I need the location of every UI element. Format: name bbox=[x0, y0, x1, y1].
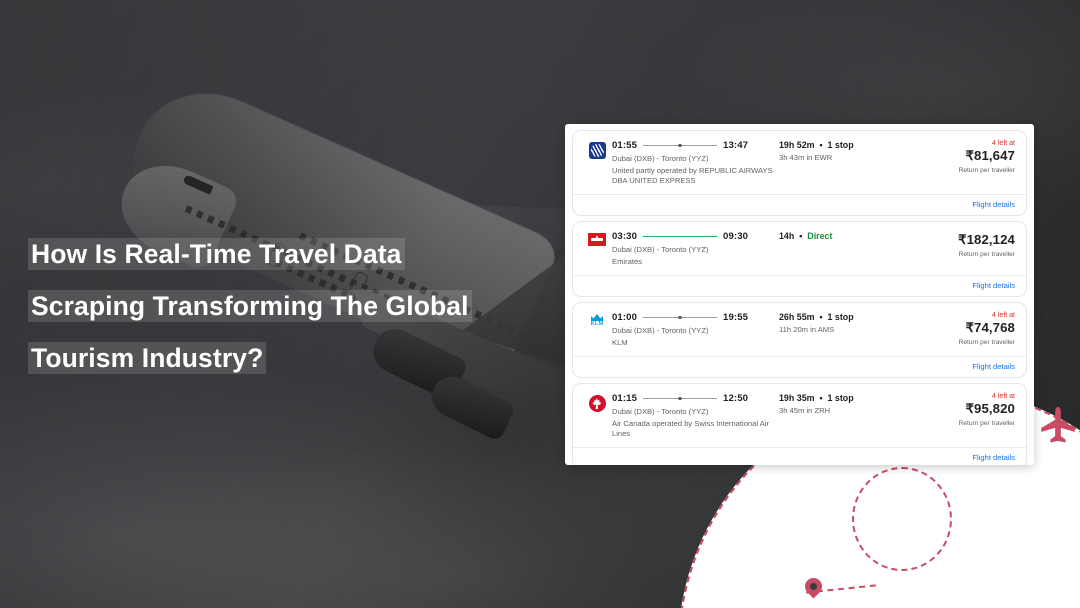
flight-price: ₹74,768 bbox=[911, 320, 1015, 336]
air-canada-logo bbox=[589, 395, 606, 412]
route-line bbox=[643, 145, 717, 146]
flight-duration-stops: 19h 52m • 1 stop bbox=[779, 140, 911, 150]
flight-stops: 1 stop bbox=[828, 312, 854, 322]
seats-left-badge: 4 left at bbox=[911, 140, 1015, 147]
flight-duration-stops: 19h 35m • 1 stop bbox=[779, 393, 911, 403]
arrive-time: 19:55 bbox=[723, 312, 748, 323]
depart-time: 01:55 bbox=[612, 140, 637, 151]
arrive-time: 13:47 bbox=[723, 140, 748, 151]
operating-carrier: Emirates bbox=[612, 257, 779, 267]
price-note: Return per traveller bbox=[911, 251, 1015, 258]
operating-carrier: Air Canada operated by Swiss Internation… bbox=[612, 419, 779, 439]
separator-dot: • bbox=[797, 231, 805, 241]
flight-times: 01:15 12:50 bbox=[612, 393, 779, 404]
operating-carrier: United partly operated by REPUBLIC AIRWA… bbox=[612, 166, 779, 186]
separator-dot: • bbox=[817, 393, 825, 403]
flight-layover: 3h 43m in EWR bbox=[779, 153, 911, 162]
route-line bbox=[643, 236, 717, 237]
klm-logo: KLM bbox=[586, 314, 608, 328]
flight-details-row: Flight details bbox=[573, 448, 1026, 465]
flight-duration-stops: 26h 55m • 1 stop bbox=[779, 312, 911, 322]
flight-duration-stops: 14h • Direct bbox=[779, 231, 911, 241]
flight-price: ₹95,820 bbox=[911, 401, 1015, 417]
depart-time: 01:15 bbox=[612, 393, 637, 404]
flight-details-row: Flight details bbox=[573, 195, 1026, 215]
separator-dot: • bbox=[817, 140, 825, 150]
flight-result-row[interactable]: 01:55 13:47 Dubai (DXB) - Toronto (YYZ) … bbox=[572, 130, 1027, 216]
arrive-time: 12:50 bbox=[723, 393, 748, 404]
route-line bbox=[643, 398, 717, 399]
flight-stops: Direct bbox=[807, 231, 832, 241]
flight-route: Dubai (DXB) - Toronto (YYZ) bbox=[612, 154, 779, 164]
flight-stops: 1 stop bbox=[828, 393, 854, 403]
airline-logo-cell bbox=[582, 231, 612, 246]
depart-time: 03:30 bbox=[612, 231, 637, 242]
hero-banner: How Is Real-Time Travel Data Scraping Tr… bbox=[0, 0, 1080, 608]
arrive-time: 09:30 bbox=[723, 231, 748, 242]
flight-details-link[interactable]: Flight details bbox=[972, 281, 1015, 290]
klm-crown-icon bbox=[591, 314, 603, 321]
flight-times: 01:00 19:55 bbox=[612, 312, 779, 323]
flight-times: 03:30 09:30 bbox=[612, 231, 779, 242]
seats-left-badge: 4 left at bbox=[911, 312, 1015, 319]
operating-carrier: KLM bbox=[612, 338, 779, 348]
price-note: Return per traveller bbox=[911, 167, 1015, 174]
flight-route: Dubai (DXB) - Toronto (YYZ) bbox=[612, 326, 779, 336]
route-line bbox=[643, 317, 717, 318]
page-title-line-3: Tourism Industry? bbox=[28, 342, 266, 374]
airplane-icon bbox=[1036, 404, 1080, 448]
flight-route: Dubai (DXB) - Toronto (YYZ) bbox=[612, 407, 779, 417]
flight-details-link[interactable]: Flight details bbox=[972, 200, 1015, 209]
emirates-logo bbox=[588, 233, 606, 246]
flight-details-row: Flight details bbox=[573, 276, 1026, 296]
airline-logo-cell bbox=[582, 393, 612, 412]
page-title-line-1: How Is Real-Time Travel Data bbox=[28, 238, 405, 270]
flight-layover: 11h 20m in AMS bbox=[779, 325, 911, 334]
united-airlines-logo bbox=[589, 142, 606, 159]
flight-result-row[interactable]: 03:30 09:30 Dubai (DXB) - Toronto (YYZ) … bbox=[572, 221, 1027, 297]
flight-duration: 26h 55m bbox=[779, 312, 815, 322]
flight-details-link[interactable]: Flight details bbox=[972, 453, 1015, 462]
dashed-flight-path-loop bbox=[852, 467, 952, 571]
flight-duration: 19h 35m bbox=[779, 393, 815, 403]
airline-logo-cell bbox=[582, 140, 612, 159]
flight-stops: 1 stop bbox=[828, 140, 854, 150]
flight-layover: 3h 45m in ZRH bbox=[779, 406, 911, 415]
flight-price: ₹182,124 bbox=[911, 232, 1015, 248]
flight-result-row[interactable]: KLM 01:00 19:55 Dubai (DXB) - Toronto (Y… bbox=[572, 302, 1027, 378]
flight-details-link[interactable]: Flight details bbox=[972, 362, 1015, 371]
flight-result-row[interactable]: 01:15 12:50 Dubai (DXB) - Toronto (YYZ) … bbox=[572, 383, 1027, 465]
price-note: Return per traveller bbox=[911, 420, 1015, 427]
flight-details-row: Flight details bbox=[573, 357, 1026, 377]
price-note: Return per traveller bbox=[911, 339, 1015, 346]
flight-results-panel: 01:55 13:47 Dubai (DXB) - Toronto (YYZ) … bbox=[565, 124, 1034, 465]
depart-time: 01:00 bbox=[612, 312, 637, 323]
klm-wordmark: KLM bbox=[586, 321, 608, 328]
seats-left-badge: 4 left at bbox=[911, 393, 1015, 400]
page-title-line-2: Scraping Transforming The Global bbox=[28, 290, 472, 322]
flight-duration: 19h 52m bbox=[779, 140, 815, 150]
flight-duration: 14h bbox=[779, 231, 794, 241]
separator-dot: • bbox=[817, 312, 825, 322]
flight-times: 01:55 13:47 bbox=[612, 140, 779, 151]
flight-route: Dubai (DXB) - Toronto (YYZ) bbox=[612, 245, 779, 255]
page-title: How Is Real-Time Travel Data Scraping Tr… bbox=[28, 228, 538, 384]
airline-logo-cell: KLM bbox=[582, 312, 612, 328]
flight-price: ₹81,647 bbox=[911, 148, 1015, 164]
